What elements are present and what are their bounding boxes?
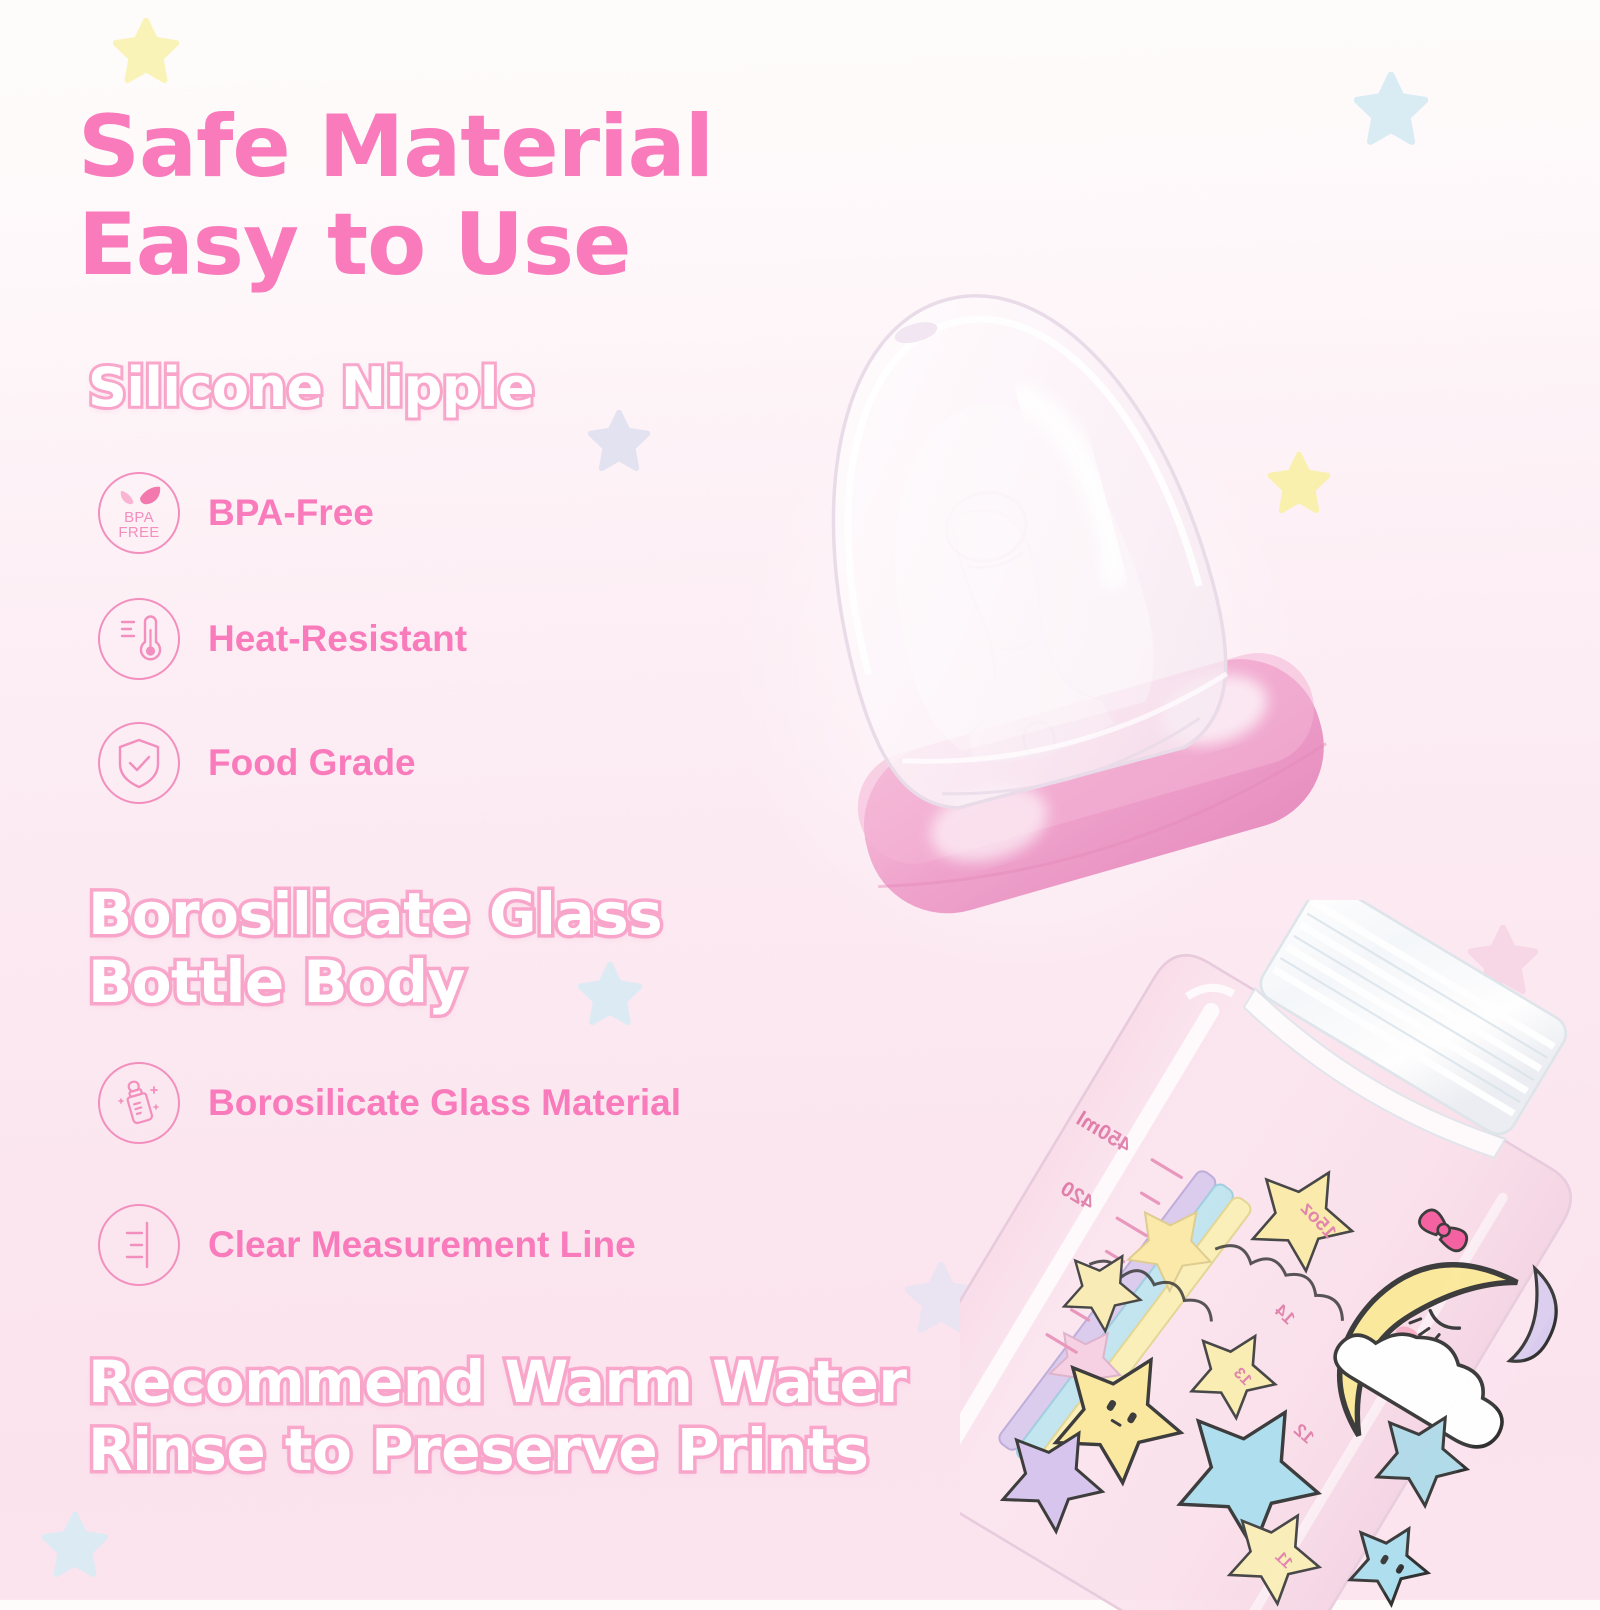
feature-label-borosilicate-glass-material: Borosilicate Glass Material (208, 1082, 681, 1124)
feature-label-food-grade: Food Grade (208, 742, 416, 784)
section-heading-warm-water-rinse: Recommend Warm Water Rinse to Preserve P… (88, 1348, 906, 1485)
shield-check-icon (98, 722, 180, 804)
feature-clear-measurement-line: Clear Measurement Line (98, 1204, 636, 1286)
star-blue-topright (1354, 72, 1428, 146)
feature-food-grade: Food Grade (98, 722, 416, 804)
headline-line-1: Safe Material (78, 97, 713, 197)
glass-heading-line-2: Bottle Body (88, 948, 662, 1016)
feature-label-clear-measurement-line: Clear Measurement Line (208, 1224, 636, 1266)
thermometer-icon (98, 598, 180, 680)
svg-text:FREE: FREE (118, 524, 159, 541)
product-image-glass-bottle: 450ml 420 15oz 14 (960, 900, 1600, 1610)
feature-borosilicate-glass-material: Borosilicate Glass Material (98, 1062, 681, 1144)
glass-heading-line-1: Borosilicate Glass (88, 880, 662, 948)
section-heading-borosilicate-glass: Borosilicate Glass Bottle Body (88, 880, 662, 1017)
baby-bottle-sparkle-icon (98, 1062, 180, 1144)
feature-label-bpa-free: BPA-Free (208, 492, 374, 534)
rinse-heading-line-2: Rinse to Preserve Prints (88, 1416, 906, 1484)
measurement-scale-icon (98, 1204, 180, 1286)
feature-heat-resistant: Heat-Resistant (98, 598, 467, 680)
feature-bpa-free: BPA FREE BPA-Free (98, 472, 374, 554)
star-yellow-topleft (113, 18, 179, 84)
bpa-free-icon: BPA FREE (98, 472, 180, 554)
rinse-heading-line-1: Recommend Warm Water (88, 1348, 906, 1416)
feature-label-heat-resistant: Heat-Resistant (208, 618, 467, 660)
star-lavender-mid (588, 410, 650, 472)
section-heading-silicone-nipple: Silicone Nipple (88, 358, 534, 417)
star-blue-bottomleft (42, 1512, 108, 1578)
